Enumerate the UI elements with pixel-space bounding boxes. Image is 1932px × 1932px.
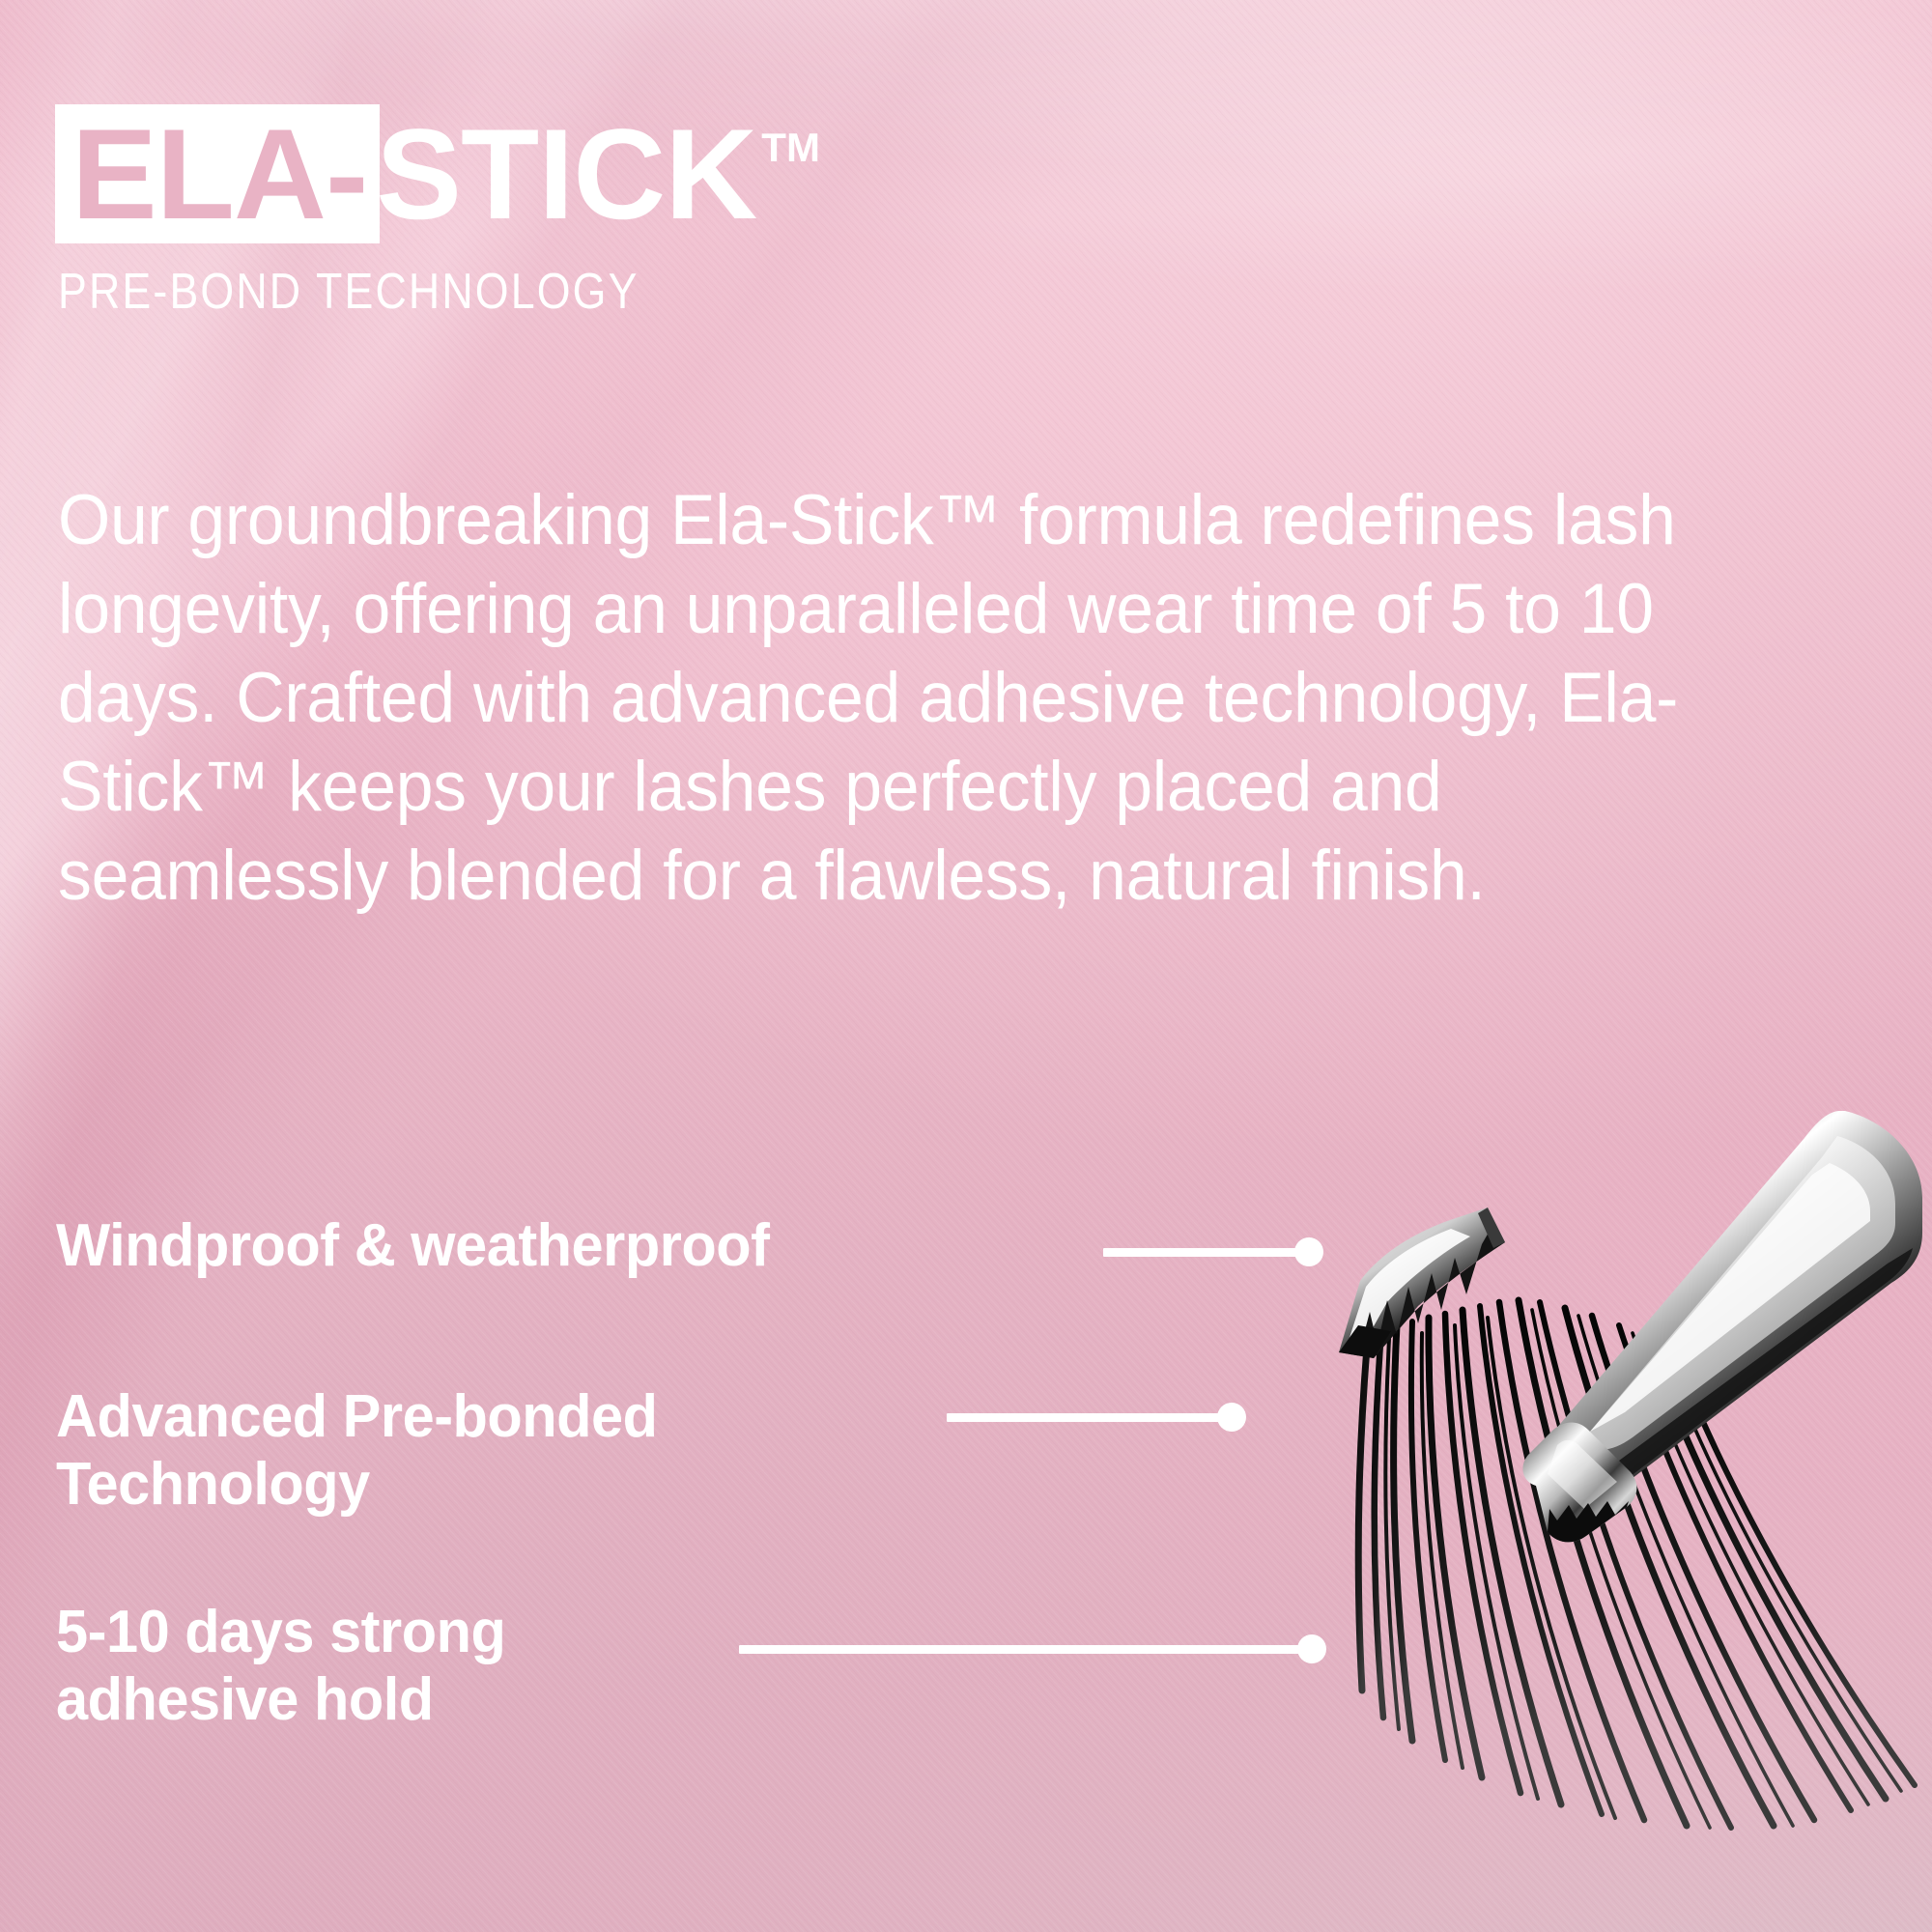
connector-line: [1103, 1248, 1296, 1257]
connector-dot: [1294, 1237, 1323, 1266]
feature-connector-prebonded: [947, 1403, 1246, 1432]
product-feature-poster: ELA- STICK TM PRE-BOND TECHNOLOGY Our gr…: [0, 0, 1932, 1932]
feature-item-prebonded: Advanced Pre-bonded Technology: [56, 1383, 683, 1519]
connector-line: [947, 1413, 1219, 1422]
feature-label: 5-10 days strong adhesive hold: [56, 1599, 505, 1734]
feature-list: Windproof & weatherproof Advanced Pre-bo…: [0, 0, 1932, 1932]
connector-dot: [1217, 1403, 1246, 1432]
feature-connector-adhesive-hold: [739, 1634, 1326, 1663]
feature-connector-windproof: [1103, 1237, 1323, 1266]
connector-line: [739, 1645, 1299, 1654]
feature-label: Advanced Pre-bonded Technology: [56, 1383, 658, 1519]
connector-dot: [1297, 1634, 1326, 1663]
poster-content: ELA- STICK TM PRE-BOND TECHNOLOGY Our gr…: [0, 0, 1932, 1932]
feature-label: Windproof & weatherproof: [56, 1212, 770, 1280]
feature-item-windproof: Windproof & weatherproof: [56, 1212, 799, 1280]
feature-item-adhesive-hold: 5-10 days strong adhesive hold: [56, 1599, 525, 1734]
